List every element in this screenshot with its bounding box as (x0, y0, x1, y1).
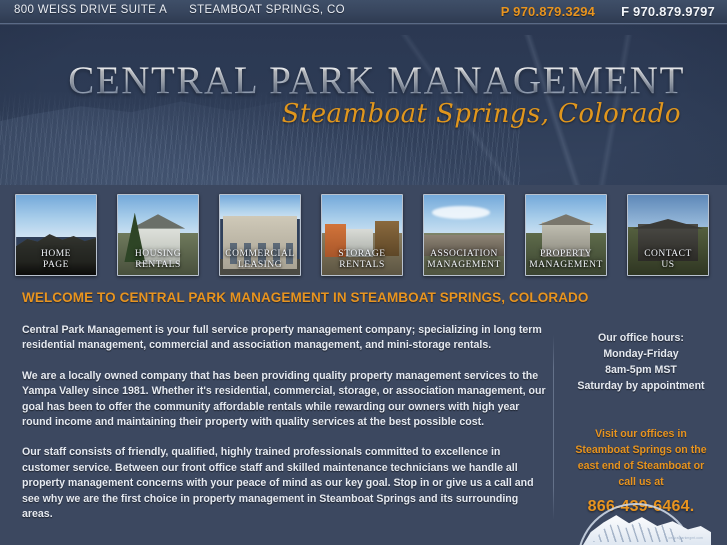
nav-tile-label-line2: MANAGEMENT (426, 260, 502, 271)
site-header-banner: CENTRAL PARK MANAGEMENT Steamboat Spring… (0, 25, 727, 185)
nav-tile-label-line2: LEASING (222, 260, 298, 271)
brand-title: CENTRAL PARK MANAGEMENT (68, 61, 685, 100)
page-root: 800 WEISS DRIVE SUITE A STEAMBOAT SPRING… (0, 0, 727, 545)
nav-tile-label-storage-rentals: STORAGE RENTALS (322, 247, 402, 275)
visit-line-1: Visit our offices in (566, 426, 716, 442)
nav-tile-property-management[interactable]: PROPERTY MANAGEMENT (525, 194, 607, 276)
topbar-address-group: 800 WEISS DRIVE SUITE A STEAMBOAT SPRING… (14, 4, 345, 16)
nav-tile-association-management[interactable]: ASSOCIATION MANAGEMENT (423, 194, 505, 276)
office-hours-line-4: Saturday by appointment (566, 378, 716, 394)
nav-tile-label-line1: CONTACT (630, 249, 706, 260)
nav-tile-contact-us[interactable]: CONTACT US (627, 194, 709, 276)
main-text-column: WELCOME TO CENTRAL PARK MANAGEMENT IN ST… (22, 290, 546, 537)
nav-tile-label-property-management: PROPERTY MANAGEMENT (526, 247, 606, 275)
logo-website-url: centralparkmgmt.com (669, 536, 703, 540)
phone-number[interactable]: P 970.879.3294 (501, 4, 595, 19)
visit-line-3: east end of Steamboat or (566, 458, 716, 474)
nav-tile-home-page[interactable]: HOME PAGE (15, 194, 97, 276)
primary-navigation-tiles: HOME PAGE HOUSING RENTALS C (15, 194, 715, 276)
nav-tile-label-line2: PAGE (18, 260, 94, 271)
nav-tile-label-line1: HOME (18, 249, 94, 260)
nav-tile-label-line1: PROPERTY (528, 249, 604, 260)
visit-line-4: call us at (566, 474, 716, 490)
column-divider (553, 335, 554, 520)
intro-paragraph-1: Central Park Management is your full ser… (22, 323, 546, 354)
intro-paragraph-2: We are a locally owned company that has … (22, 369, 546, 431)
sidebar-info-column: Our office hours: Monday-Friday 8am-5pm … (566, 330, 716, 516)
office-hours-line-2: Monday-Friday (566, 346, 716, 362)
nav-tile-commercial-leasing[interactable]: COMMERCIAL LEASING (219, 194, 301, 276)
intro-paragraph-3: Our staff consists of friendly, qualifie… (22, 445, 546, 522)
nav-tile-label-home-page: HOME PAGE (16, 247, 96, 275)
fax-number: F 970.879.9797 (621, 4, 715, 19)
nav-tile-label-line2: RENTALS (324, 260, 400, 271)
brand-subtitle: Steamboat Springs, Colorado (68, 101, 681, 127)
nav-tile-label-line2: MANAGEMENT (528, 260, 604, 271)
welcome-heading: WELCOME TO CENTRAL PARK MANAGEMENT IN ST… (22, 290, 546, 305)
nav-tile-label-line2: US (630, 260, 706, 271)
nav-tile-label-line1: HOUSING (120, 249, 196, 260)
top-contact-bar: 800 WEISS DRIVE SUITE A STEAMBOAT SPRING… (0, 0, 727, 24)
nav-tile-label-association-management: ASSOCIATION MANAGEMENT (424, 247, 504, 275)
visit-offices-block: Visit our offices in Steamboat Springs o… (566, 426, 716, 490)
site-logo-wordmark[interactable]: CENTRAL PARK MANAGEMENT Steamboat Spring… (68, 61, 685, 127)
office-hours-line-3: 8am-5pm MST (566, 362, 716, 378)
nav-tile-housing-rentals[interactable]: HOUSING RENTALS (117, 194, 199, 276)
office-hours-line-1: Our office hours: (566, 330, 716, 346)
visit-line-2: Steamboat Springs on the (566, 442, 716, 458)
footer-mountain-logo[interactable]: centralparkmgmt.com (559, 497, 719, 545)
nav-tile-label-line1: COMMERCIAL (222, 249, 298, 260)
office-city-state: STEAMBOAT SPRINGS, CO (189, 4, 345, 16)
nav-tile-label-line1: STORAGE (324, 249, 400, 260)
nav-tile-storage-rentals[interactable]: STORAGE RENTALS (321, 194, 403, 276)
office-address: 800 WEISS DRIVE SUITE A (14, 4, 167, 16)
nav-tile-label-housing-rentals: HOUSING RENTALS (118, 247, 198, 275)
nav-tile-label-line1: ASSOCIATION (426, 249, 502, 260)
topbar-phone-group: P 970.879.3294 F 970.879.9797 (501, 4, 715, 19)
nav-tile-label-line2: RENTALS (120, 260, 196, 271)
nav-tile-label-contact-us: CONTACT US (628, 247, 708, 275)
nav-tile-label-commercial-leasing: COMMERCIAL LEASING (220, 247, 300, 275)
